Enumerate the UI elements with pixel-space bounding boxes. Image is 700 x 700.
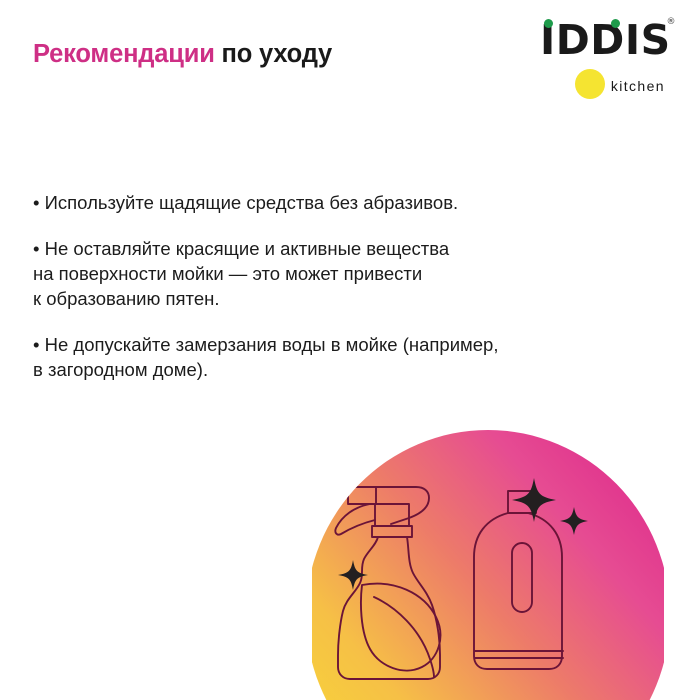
gradient-blob-shape <box>312 430 664 700</box>
logo-subbrand: kitchen <box>540 72 665 104</box>
page-title: Рекомендации по уходу <box>33 40 332 68</box>
page-title-accent: Рекомендации <box>33 40 215 68</box>
care-list-item: • Не допускайте замерзания воды в мойке … <box>33 332 653 382</box>
care-recommendations-card: Рекомендации по уходу IDDIS ® kitchen • … <box>0 0 700 700</box>
logo-yellow-circle-icon <box>575 69 605 99</box>
logo-wordmark: IDDIS ® <box>540 20 665 61</box>
logo-dot-icon-first <box>544 19 553 28</box>
logo-wordmark-text: IDDIS <box>540 16 671 64</box>
logo-dot-icon-second <box>611 19 620 28</box>
registered-trademark-icon: ® <box>667 18 677 27</box>
illustration <box>312 425 664 700</box>
brand-logo: IDDIS ® kitchen <box>540 20 665 105</box>
care-list-item: • Не оставляйте красящие и активные веще… <box>33 236 653 311</box>
page-title-rest: по уходу <box>215 40 332 68</box>
header: Рекомендации по уходу IDDIS ® kitchen <box>0 0 700 120</box>
care-instructions-list: • Используйте щадящие средства без абраз… <box>33 190 653 382</box>
cleaning-products-illustration <box>312 425 664 700</box>
care-list-item: • Используйте щадящие средства без абраз… <box>33 190 653 215</box>
logo-subbrand-label: kitchen <box>611 78 665 94</box>
